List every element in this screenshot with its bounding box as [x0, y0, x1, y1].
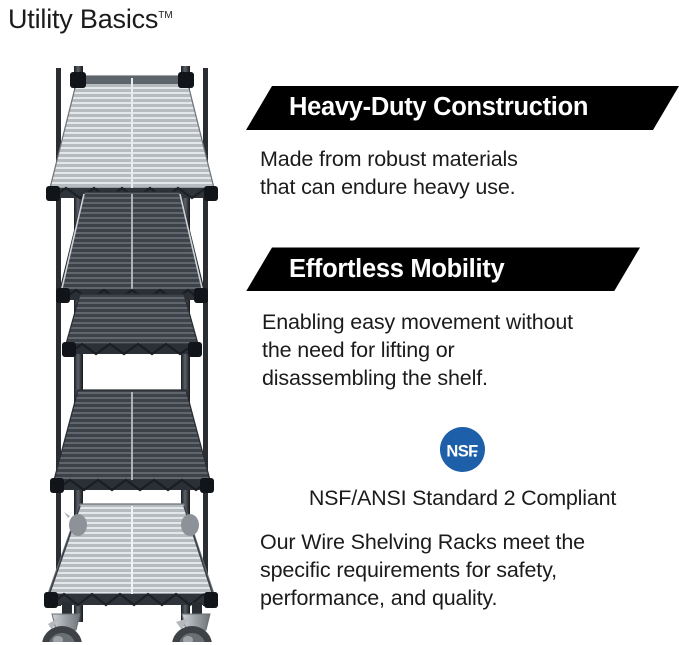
product-image [18, 52, 246, 642]
trademark-symbol: TM [158, 10, 172, 21]
rear-caster-right [181, 514, 199, 536]
feature-title: Effortless Mobility [289, 257, 504, 283]
feature-body-effortless-mobility: Enabling easy movement without the need … [262, 309, 679, 392]
brand-wordmark: Utility BasicsTM [8, 4, 173, 35]
nsf-certification-icon: NSF [440, 427, 485, 472]
shelf-tier-4 [50, 390, 214, 493]
feature-title: Heavy-Duty Construction [289, 95, 588, 121]
certification-body: Our Wire Shelving Racks meet the specifi… [260, 529, 679, 612]
brand-name: Utility Basics [8, 4, 158, 34]
shelf-tier-1 [46, 72, 218, 201]
svg-text:NSF: NSF [446, 442, 478, 460]
feature-banner-effortless-mobility: Effortless Mobility [246, 247, 640, 291]
feature-list: Heavy-Duty Construction Made from robust… [246, 86, 679, 613]
section-spacer [246, 201, 679, 247]
feature-body-heavy-duty-construction: Made from robust materials that can endu… [260, 146, 679, 201]
certification-block: NSF NSF/ANSI Standard 2 Compliant Our Wi… [246, 427, 679, 613]
shelf-tier-3 [62, 294, 202, 357]
feature-banner-heavy-duty-construction: Heavy-Duty Construction [246, 86, 679, 130]
caster-front-right [172, 602, 212, 642]
certification-caption: NSF/ANSI Standard 2 Compliant [246, 486, 679, 512]
wire-shelving-rack-illustration [18, 52, 246, 642]
